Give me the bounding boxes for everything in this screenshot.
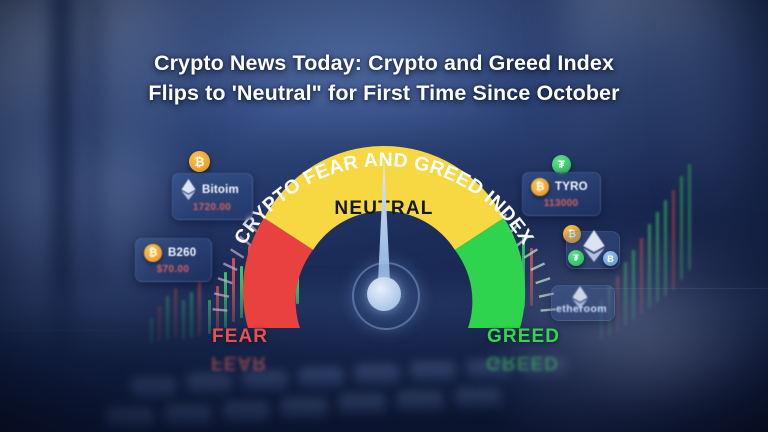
bitcoin-card[interactable]: Bitoim 1720.00 [172, 173, 253, 220]
tether-symbol: ₮ [558, 159, 565, 171]
bitcoin-icon-tyro: ₿ [531, 178, 549, 196]
tyro-card[interactable]: ₿ TYRO 113000 [522, 172, 601, 216]
ethereum-icon-large [583, 230, 605, 262]
headline-line-1: Crypto News Today: Crypto and Greed Inde… [0, 48, 768, 78]
gauge-hub [367, 277, 401, 311]
bitcoin-card-row: Bitoim [181, 179, 243, 200]
tether-badge-small: ₮ [568, 250, 584, 266]
b260-card-row: ₿ B260 [144, 244, 202, 262]
zone-label-greed: GREED [487, 326, 560, 348]
bitcoin-card-name: Bitoim [202, 184, 239, 196]
zone-label-fear: FEAR [212, 326, 268, 348]
coin-symbol-blue: Ƀ [607, 254, 614, 264]
headline-line-2: Flips to 'Neutral" for First Time Since … [0, 78, 768, 108]
bitcoin-symbol-tyro: ₿ [536, 181, 545, 193]
bitcoin-card-price: 1720.00 [181, 202, 243, 213]
tyro-card-row: ₿ TYRO [531, 178, 591, 196]
screenshot-stage: Crypto News Today: Crypto and Greed Inde… [0, 0, 768, 432]
b260-card[interactable]: ₿ B260 $70.00 [135, 238, 212, 282]
bitcoin-symbol: ₿ [195, 155, 205, 169]
tether-symbol-small: ₮ [573, 253, 579, 263]
coin-badge-blue: Ƀ [603, 251, 618, 266]
tyro-card-price: 113000 [531, 198, 591, 209]
bitcoin-icon: ₿ [144, 244, 162, 262]
zone-label-fear-reflection: FEAR [211, 351, 267, 373]
headline: Crypto News Today: Crypto and Greed Inde… [0, 48, 768, 108]
b260-card-price: $70.00 [144, 264, 202, 275]
bitcoin-symbol-b260: ₿ [149, 247, 158, 259]
fear-greed-gauge: CRYPTO FEAR AND GREED INDEX NEUTRAL [196, 140, 572, 340]
b260-card-name: B260 [168, 247, 196, 259]
zone-label-greed-reflection: GREED [486, 351, 559, 373]
tyro-card-name: TYRO [555, 181, 588, 193]
etheroom-card-name: etheroom [556, 303, 607, 315]
ethereum-icon [181, 179, 196, 200]
bitcoin-badge-floating-left: ₿ [189, 151, 210, 172]
